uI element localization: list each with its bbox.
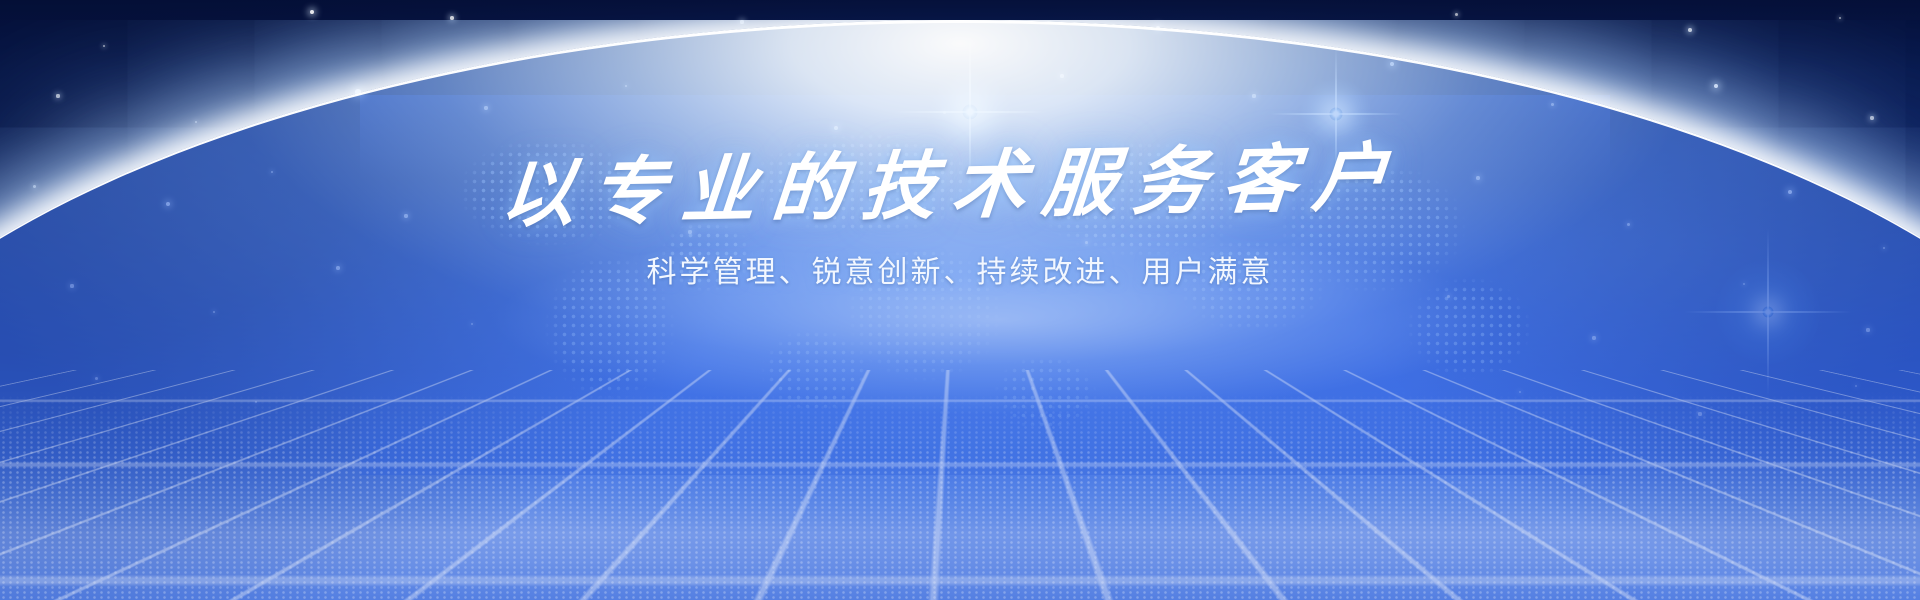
hero-banner: 以专业的技术服务客户 科学管理、锐意创新、持续改进、用户满意 bbox=[0, 0, 1920, 600]
star-point bbox=[310, 10, 314, 14]
star-point bbox=[1839, 17, 1842, 20]
banner-subtitle: 科学管理、锐意创新、持续改进、用户满意 bbox=[0, 253, 1920, 292]
star-point bbox=[1455, 13, 1458, 16]
banner-text-block: 以专业的技术服务客户 科学管理、锐意创新、持续改进、用户满意 bbox=[0, 150, 1920, 292]
city-lights-speckle bbox=[0, 390, 1920, 600]
